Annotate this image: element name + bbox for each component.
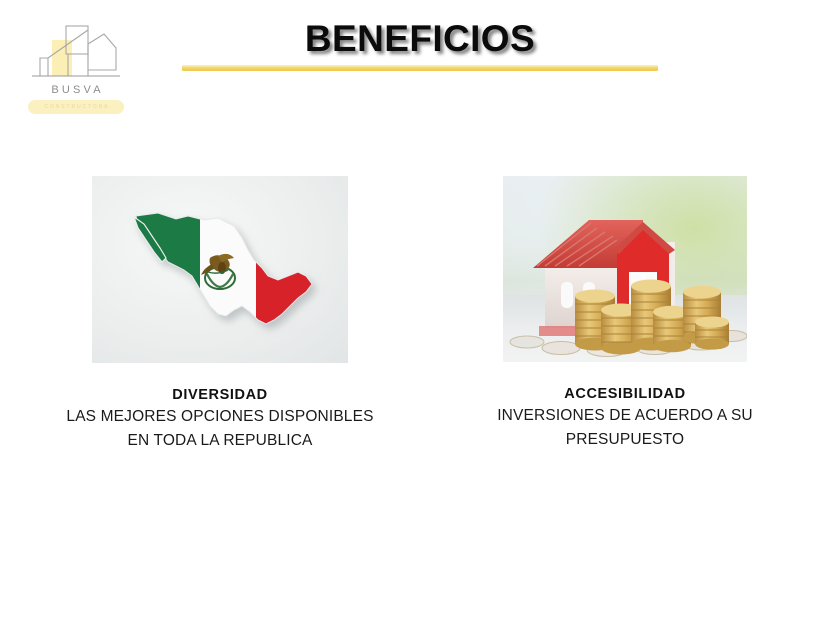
logo-wordmark: BUSVA [26,84,126,96]
mexico-map-shape-icon [92,176,348,363]
benefit-body-line-2: PRESUPUESTO [430,428,820,452]
benefit-column-accesibilidad: ACCESIBILIDAD INVERSIONES DE ACUERDO A S… [430,176,820,452]
benefit-title: ACCESIBILIDAD [430,384,820,404]
benefit-body-line-2: EN TODA LA REPUBLICA [20,429,420,453]
logo-subtitle-band: CONSTRUCTORA [28,100,124,114]
coin-stack-6-icon [695,316,729,349]
house-and-coins-image [503,176,747,362]
logo-subtitle: CONSTRUCTORA [28,101,124,113]
slide-canvas: BUSVA CONSTRUCTORA BENEFICIOS [0,0,840,630]
house-and-coins-illustration-icon [503,176,747,362]
benefit-caption-diversidad: DIVERSIDAD LAS MEJORES OPCIONES DISPONIB… [20,385,420,453]
title-accent-rule [182,65,658,71]
mexico-map-flag-image [92,176,348,363]
page-title: BENEFICIOS [0,18,840,60]
benefit-body-line-1: LAS MEJORES OPCIONES DISPONIBLES [20,405,420,429]
benefit-title: DIVERSIDAD [20,385,420,405]
benefit-body-line-1: INVERSIONES DE ACUERDO A SU [430,404,820,428]
benefit-caption-accesibilidad: ACCESIBILIDAD INVERSIONES DE ACUERDO A S… [430,384,820,452]
benefit-column-diversidad: DIVERSIDAD LAS MEJORES OPCIONES DISPONIB… [20,176,420,453]
